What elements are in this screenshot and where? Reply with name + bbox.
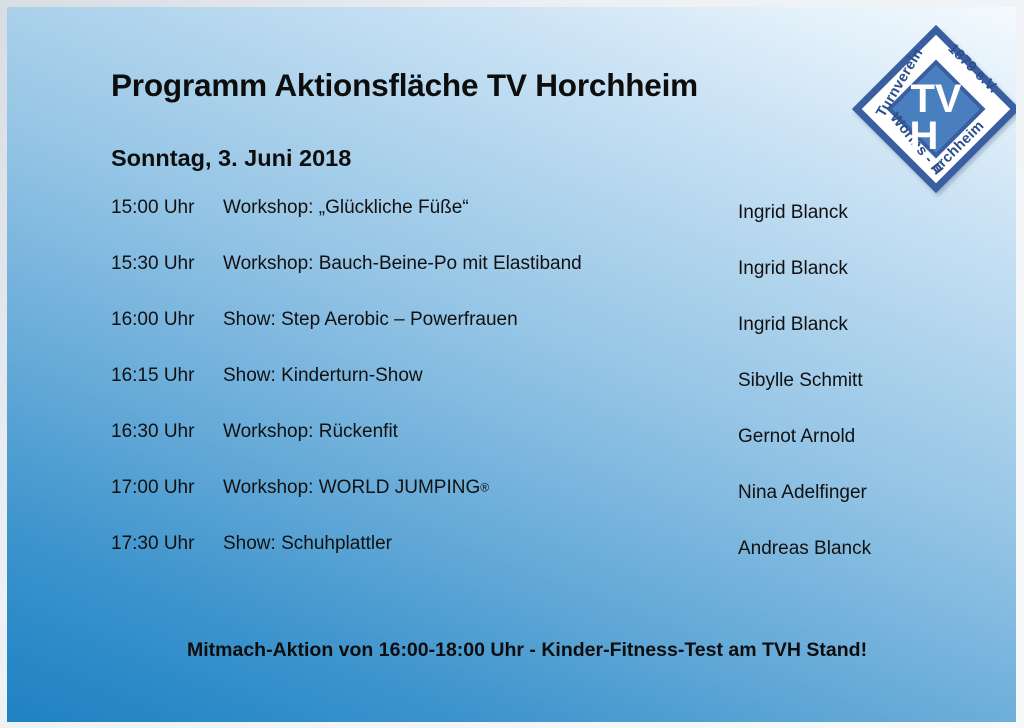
row-event-text: Workshop: WORLD JUMPING — [223, 477, 480, 498]
row-event: Show: Step Aerobic – Powerfrauen — [223, 309, 518, 331]
row-event: Show: Kinderturn-Show — [223, 365, 423, 387]
slide-frame: Turnverein 1879 e.V. Worms - Horchheim T… — [0, 0, 1024, 728]
row-person: Ingrid Blanck — [738, 202, 848, 224]
row-time: 16:15 Uhr — [111, 365, 194, 387]
tvh-logo: Turnverein 1879 e.V. Worms - Horchheim T… — [852, 25, 1016, 193]
row-time: 16:30 Uhr — [111, 421, 194, 443]
tvh-logo-icon: Turnverein 1879 e.V. Worms - Horchheim T… — [852, 25, 1016, 193]
row-time: 15:00 Uhr — [111, 197, 194, 219]
schedule-row: 15:00 Uhr Workshop: „Glückliche Füße“ In… — [7, 197, 1016, 253]
date-heading: Sonntag, 3. Juni 2018 — [111, 145, 351, 172]
row-person: Andreas Blanck — [738, 538, 871, 560]
schedule-row: 17:30 Uhr Show: Schuhplattler Andreas Bl… — [7, 533, 1016, 589]
row-person: Ingrid Blanck — [738, 258, 848, 280]
row-event: Workshop: WORLD JUMPING® — [223, 477, 489, 499]
row-time: 16:00 Uhr — [111, 309, 194, 331]
schedule-row: 17:00 Uhr Workshop: WORLD JUMPING® Nina … — [7, 477, 1016, 533]
row-event: Workshop: Rückenfit — [223, 421, 398, 443]
row-time: 17:30 Uhr — [111, 533, 194, 555]
row-person: Nina Adelfinger — [738, 482, 867, 504]
row-person: Gernot Arnold — [738, 426, 855, 448]
footer-note: Mitmach-Aktion von 16:00-18:00 Uhr - Kin… — [187, 639, 867, 662]
row-person: Ingrid Blanck — [738, 314, 848, 336]
schedule-row: 15:30 Uhr Workshop: Bauch-Beine-Po mit E… — [7, 253, 1016, 309]
page-title: Programm Aktionsfläche TV Horchheim — [111, 67, 698, 104]
row-time: 17:00 Uhr — [111, 477, 194, 499]
registered-trademark-icon: ® — [480, 481, 489, 495]
row-person: Sibylle Schmitt — [738, 370, 863, 392]
row-time: 15:30 Uhr — [111, 253, 194, 275]
row-event: Workshop: „Glückliche Füße“ — [223, 197, 469, 219]
row-event: Show: Schuhplattler — [223, 533, 392, 555]
schedule-row: 16:00 Uhr Show: Step Aerobic – Powerfrau… — [7, 309, 1016, 365]
schedule-row: 16:30 Uhr Workshop: Rückenfit Gernot Arn… — [7, 421, 1016, 477]
logo-monogram-h: H — [910, 114, 939, 158]
tvh-logo-stage: Turnverein 1879 e.V. Worms - Horchheim T… — [852, 25, 1016, 193]
schedule-list: 15:00 Uhr Workshop: „Glückliche Füße“ In… — [7, 197, 1016, 589]
schedule-row: 16:15 Uhr Show: Kinderturn-Show Sibylle … — [7, 365, 1016, 421]
slide-canvas: Turnverein 1879 e.V. Worms - Horchheim T… — [7, 7, 1016, 722]
row-event: Workshop: Bauch-Beine-Po mit Elastiband — [223, 253, 582, 275]
